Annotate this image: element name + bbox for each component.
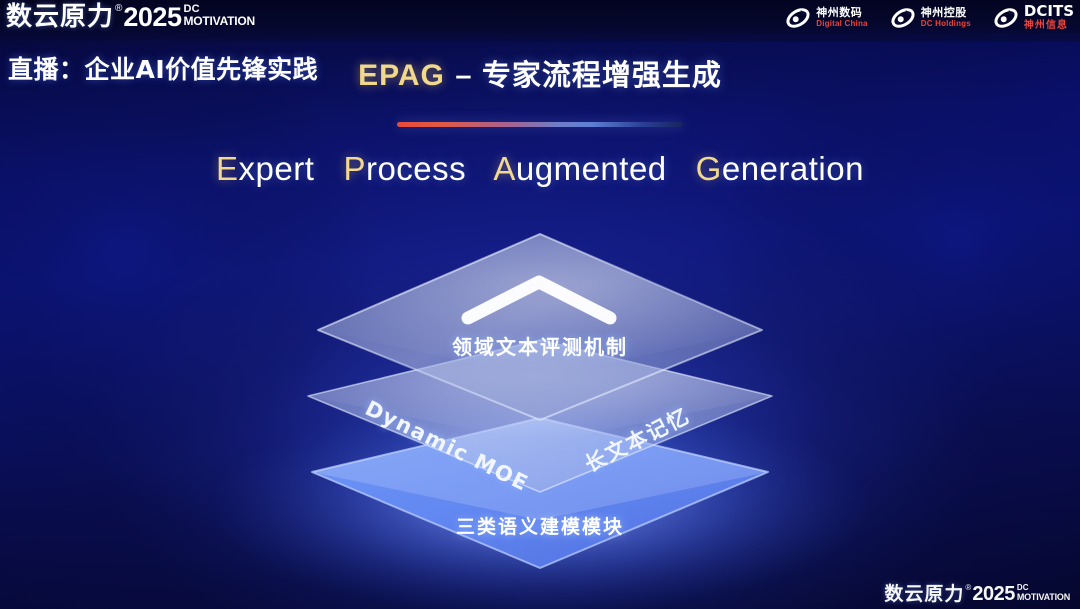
- swoosh-icon: [890, 5, 916, 31]
- subtitle-word: Augmented: [493, 150, 666, 187]
- subtitle-remainder: xpert: [239, 150, 315, 187]
- title-dash: –: [455, 60, 471, 92]
- subtitle-initial: G: [696, 150, 722, 187]
- partner-logo-dcits: DCITS 神州信息: [993, 4, 1074, 31]
- slide-canvas: 数云原力 ® 2025 DC MOTIVATION 直播：企业AI价值先锋实践 …: [0, 0, 1080, 609]
- subtitle-word: Expert: [216, 150, 314, 187]
- title-acronym: EPAG: [358, 59, 445, 92]
- partner-logo-text: DCITS 神州信息: [1024, 4, 1074, 31]
- brand-registered-mark: ®: [115, 2, 122, 16]
- partner-logo-text: 神州数码 Digital China: [816, 7, 868, 28]
- gradient-divider: [397, 122, 683, 127]
- swoosh-icon: [993, 5, 1019, 31]
- subtitle-initial: E: [216, 150, 239, 187]
- subtitle-space: [324, 150, 334, 187]
- brand-lockup: 数云原力 ® 2025 DC MOTIVATION: [6, 2, 255, 32]
- partner-name-en: Digital China: [816, 20, 868, 28]
- subtitle-remainder: eneration: [722, 150, 864, 187]
- partner-logo-text: 神州控股 DC Holdings: [921, 7, 971, 28]
- subtitle-word: Generation: [696, 150, 864, 187]
- subtitle-word: Process: [343, 150, 466, 187]
- partner-logo-group: 神州数码 Digital China 神州控股 DC Holdings: [785, 4, 1074, 31]
- subtitle-initial: A: [493, 150, 516, 187]
- partner-name-cn: 神州数码: [816, 7, 868, 18]
- swoosh-icon: [785, 5, 811, 31]
- footer-brand-watermark: 数云原力 ® 2025 DC MOTIVATION: [884, 583, 1070, 605]
- footer-brand-year: 2025: [972, 583, 1015, 605]
- partner-logo-dc-holdings: 神州控股 DC Holdings: [890, 5, 971, 31]
- brand-motivation-text: MOTIVATION: [183, 15, 255, 28]
- partner-name-cn: 神州控股: [921, 7, 971, 18]
- footer-brand-name-cn: 数云原力: [884, 583, 964, 605]
- subtitle-remainder: ugmented: [516, 150, 667, 187]
- partner-name-cn: DCITS: [1024, 4, 1074, 19]
- live-session-title: 直播：企业AI价值先锋实践: [8, 50, 318, 86]
- subtitle-remainder: rocess: [366, 150, 466, 187]
- subtitle-space: [476, 150, 486, 187]
- brand-sub-lockup: DC MOTIVATION: [183, 4, 255, 28]
- brand-year: 2025: [123, 2, 181, 32]
- footer-brand-motivation-text: MOTIVATION: [1017, 592, 1070, 602]
- partner-logo-digital-china: 神州数码 Digital China: [785, 5, 868, 31]
- partner-name-en: 神州信息: [1024, 21, 1074, 31]
- footer-brand-registered-mark: ®: [965, 583, 971, 593]
- subtitle-initial: P: [343, 150, 366, 187]
- subtitle-expansion: Expert Process Augmented Generation: [0, 150, 1080, 188]
- brand-name-cn: 数云原力: [6, 2, 114, 32]
- title-chinese: 专家流程增强生成: [482, 58, 722, 92]
- footer-brand-dc-text: DC: [1017, 584, 1070, 592]
- subtitle-space: [676, 150, 686, 187]
- partner-name-en: DC Holdings: [921, 20, 971, 28]
- footer-brand-sub-lockup: DC MOTIVATION: [1017, 584, 1070, 602]
